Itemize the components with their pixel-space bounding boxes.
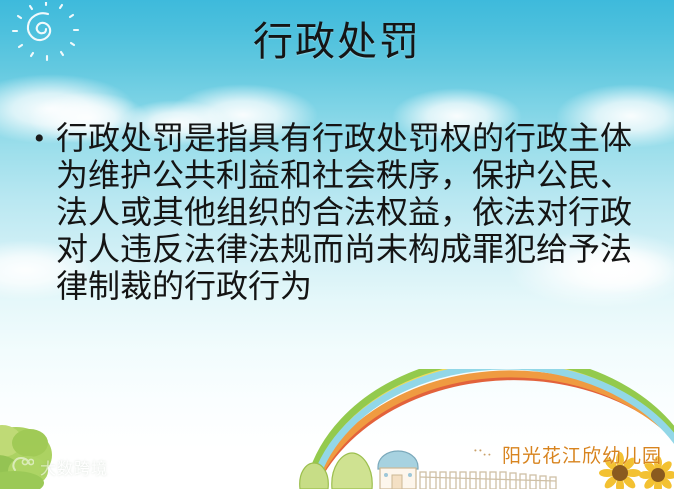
watermark-left-text: 大数跨境 xyxy=(40,455,108,479)
watermark-bottom-left: 大数跨境 xyxy=(12,455,108,479)
slide-canvas: 行政处罚 • 行政处罚是指具有行政处罚权的行政主体为维护公共利益和社会秩序，保护… xyxy=(0,0,674,489)
rainbow-icon xyxy=(300,369,674,489)
body-bullet-item: • 行政处罚是指具有行政处罚权的行政主体为维护公共利益和社会秩序，保护公民、法人… xyxy=(30,120,644,305)
wechat-logo-icon xyxy=(469,444,495,469)
watermark-right-text: 阳光花江欣幼儿园 xyxy=(502,447,662,466)
watermark-left-logo-icon xyxy=(12,456,34,479)
fence-icon xyxy=(420,472,556,489)
bullet-marker: • xyxy=(30,120,56,158)
house-icon xyxy=(378,451,418,489)
slide-title: 行政处罚 xyxy=(0,16,674,68)
body-paragraph: 行政处罚是指具有行政处罚权的行政主体为维护公共利益和社会秩序，保护公民、法人或其… xyxy=(56,120,644,305)
watermark-bottom-right: 阳光花江欣幼儿园 xyxy=(469,444,662,469)
bush-icon xyxy=(300,453,373,489)
